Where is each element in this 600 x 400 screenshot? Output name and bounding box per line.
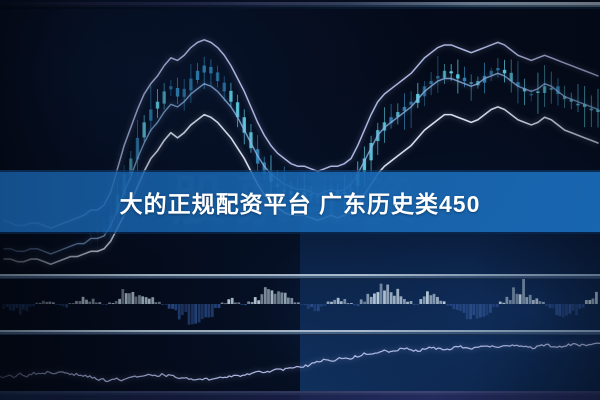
title-banner: 大的正规配资平台 广东历史类450 bbox=[0, 172, 600, 232]
stock-chart-banner-image: 股票配资 大的正规配资平台 广东历史类450 bbox=[0, 0, 600, 400]
banner-title-text: 大的正规配资平台 广东历史类450 bbox=[120, 185, 481, 219]
